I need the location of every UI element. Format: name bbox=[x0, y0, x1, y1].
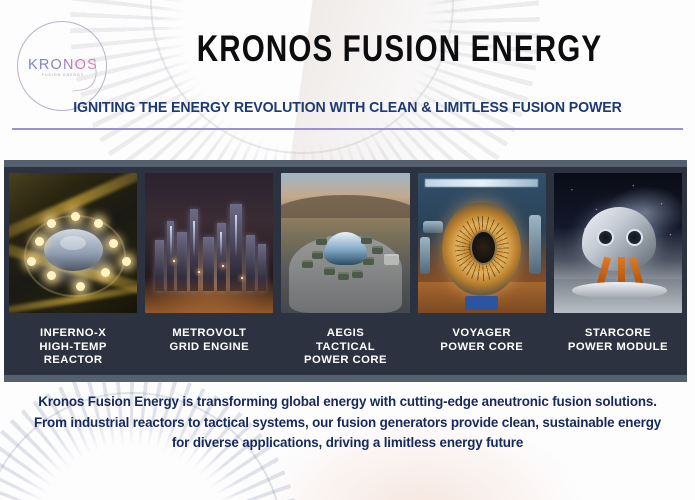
product-panel: INFERNO-X HIGH-TEMP REACTOR bbox=[4, 160, 687, 382]
product-card-starcore[interactable]: STARCORE POWER MODULE bbox=[554, 173, 682, 375]
product-image-aegis bbox=[281, 173, 409, 313]
footer: Kronos Fusion Energy is transforming glo… bbox=[0, 392, 695, 454]
footer-paragraph: Kronos Fusion Energy is transforming glo… bbox=[26, 392, 669, 454]
product-card-voyager[interactable]: VOYAGER POWER CORE bbox=[418, 173, 546, 375]
product-card-row: INFERNO-X HIGH-TEMP REACTOR bbox=[4, 167, 687, 375]
product-label: STARCORE POWER MODULE bbox=[554, 327, 682, 354]
product-card-inferno-x[interactable]: INFERNO-X HIGH-TEMP REACTOR bbox=[9, 173, 137, 375]
header-divider bbox=[12, 128, 683, 130]
logo-tagline: FUSION ENERGY bbox=[24, 73, 102, 77]
product-image-starcore bbox=[554, 173, 682, 313]
product-card-metrovolt[interactable]: METROVOLT GRID ENGINE bbox=[145, 173, 273, 375]
city-skyline-icon bbox=[145, 173, 273, 313]
product-card-aegis[interactable]: AEGIS TACTICAL POWER CORE bbox=[281, 173, 409, 375]
product-image-voyager bbox=[418, 173, 546, 313]
desert-base-icon bbox=[281, 173, 409, 313]
reactor-aerial-icon bbox=[9, 173, 137, 313]
product-image-metrovolt bbox=[145, 173, 273, 313]
product-label: AEGIS TACTICAL POWER CORE bbox=[281, 327, 409, 368]
kronos-logo: KRONOS FUSION ENERGY bbox=[17, 21, 107, 111]
product-label: VOYAGER POWER CORE bbox=[418, 327, 546, 354]
toroidal-core-icon bbox=[418, 173, 546, 313]
product-label: METROVOLT GRID ENGINE bbox=[145, 327, 273, 354]
lunar-module-icon bbox=[554, 173, 682, 313]
product-image-inferno-x bbox=[9, 173, 137, 313]
page-subtitle: IGNITING THE ENERGY REVOLUTION WITH CLEA… bbox=[10, 100, 684, 116]
product-label: INFERNO-X HIGH-TEMP REACTOR bbox=[9, 327, 137, 368]
page-title: KRONOS FUSION ENERGY bbox=[176, 28, 623, 70]
header: KRONOS FUSION ENERGY KRONOS FUSION ENERG… bbox=[0, 0, 695, 160]
logo-wordmark: KRONOS bbox=[24, 57, 102, 73]
slide-canvas: KRONOS FUSION ENERGY KRONOS FUSION ENERG… bbox=[0, 0, 695, 500]
